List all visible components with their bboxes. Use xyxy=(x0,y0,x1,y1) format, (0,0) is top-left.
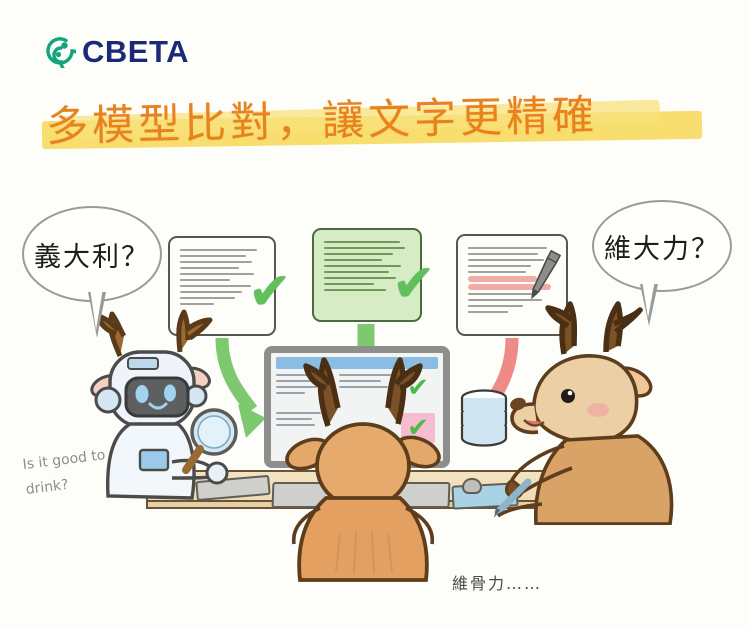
handwritten-note-english: Is it good to drink? xyxy=(21,443,110,502)
antlers xyxy=(306,360,420,426)
deer-at-computer-back-view xyxy=(280,348,446,583)
mouse-icon[interactable] xyxy=(462,478,482,494)
robot-eye-left xyxy=(136,385,149,403)
speech-bubble-right-text: 維大力？ xyxy=(604,227,720,266)
deer-with-pen xyxy=(494,300,684,525)
chest-panel xyxy=(140,450,168,470)
head-plate xyxy=(128,358,158,369)
deer-head xyxy=(317,424,409,508)
magnifying-glass-icon xyxy=(186,410,236,470)
speech-bubble-left-tail-fill xyxy=(90,288,103,330)
robot-deer-with-magnifier xyxy=(86,300,256,515)
antlers xyxy=(548,304,640,354)
speech-bubble-right-tail-fill xyxy=(642,280,655,318)
antler xyxy=(98,312,210,356)
speech-bubble-right: 維大力？ xyxy=(592,200,732,292)
eye xyxy=(561,389,575,403)
deer-head xyxy=(534,356,637,443)
cheek-blush xyxy=(587,403,609,417)
robot-eye-right xyxy=(164,385,176,402)
robot-hand xyxy=(207,463,227,483)
speech-bubble-left-text: 義大利？ xyxy=(34,235,150,274)
robot-face-screen xyxy=(126,378,188,416)
ear-pod-left xyxy=(96,388,120,412)
handwritten-note-bottom: 維骨力…… xyxy=(452,570,542,594)
poster-canvas: CBETA 多模型比對，讓文字更精確 ✔ ✔ xyxy=(0,0,750,629)
